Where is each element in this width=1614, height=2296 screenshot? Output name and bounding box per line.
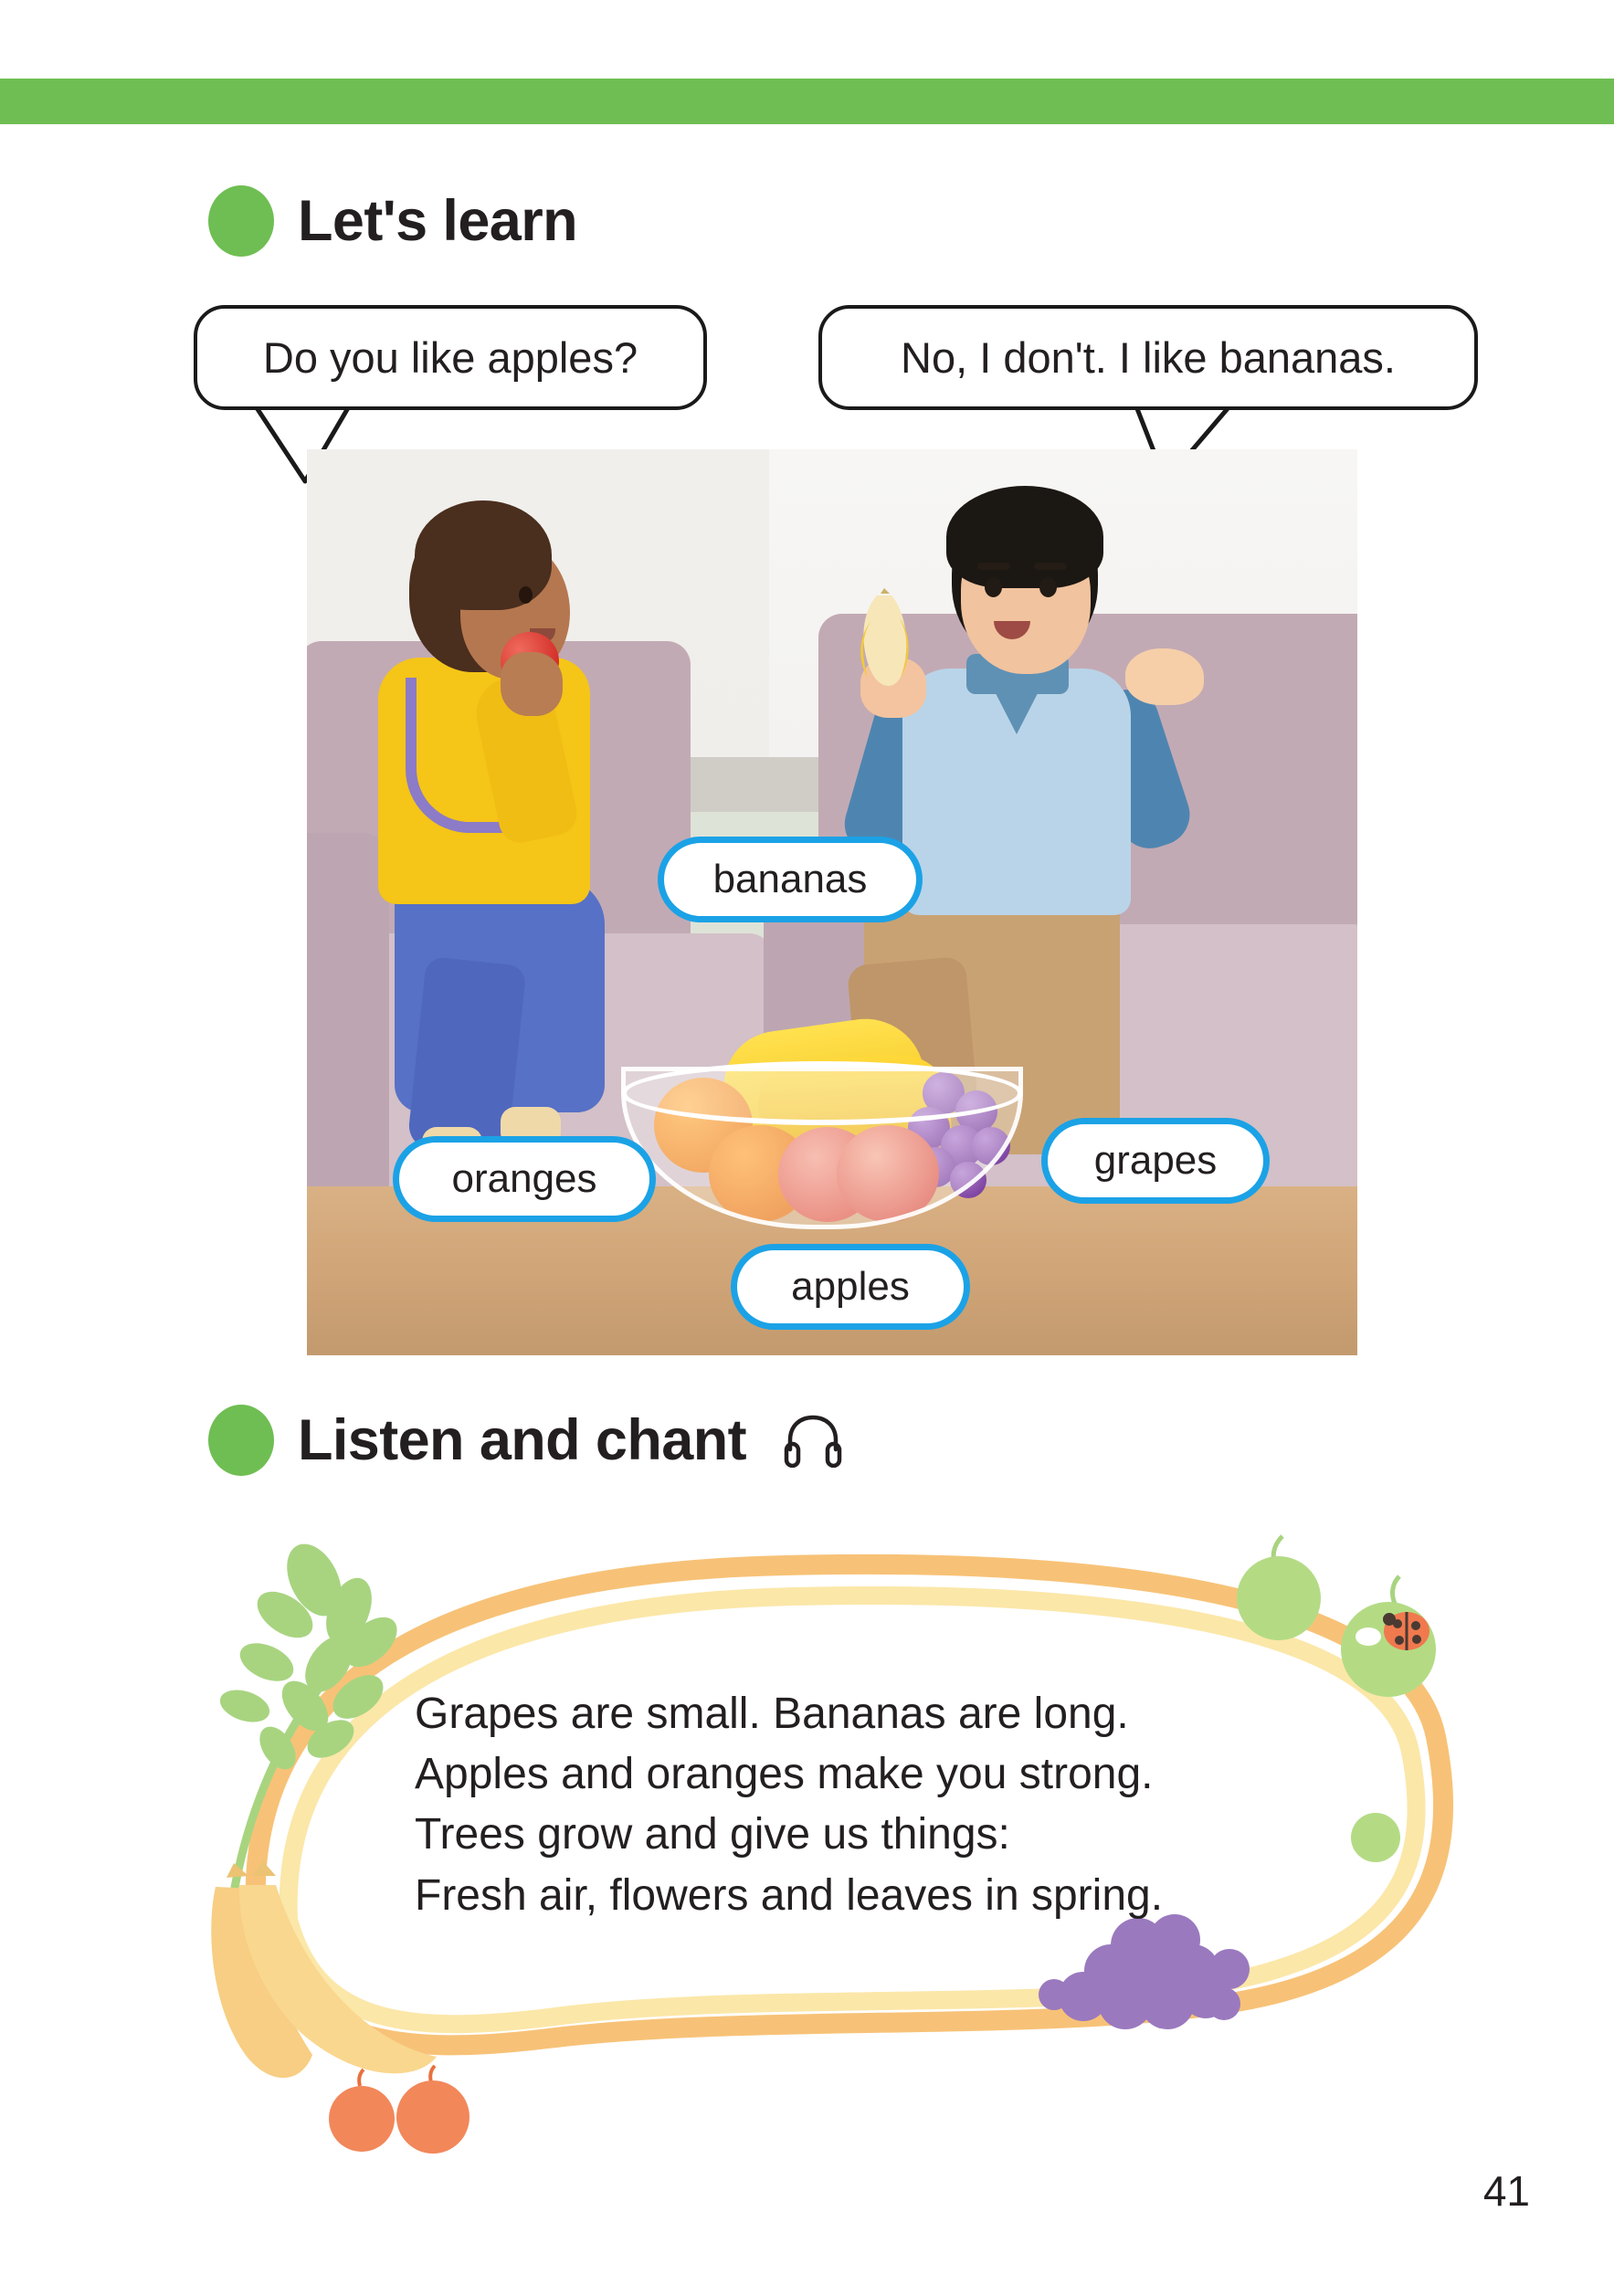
right-boy-eye-right (1039, 577, 1057, 597)
fruit-label-bananas[interactable]: bananas (658, 837, 923, 922)
speech-bubble-right: No, I don't. I like bananas. (818, 305, 1478, 410)
speech-bubble-left: Do you like apples? (194, 305, 707, 410)
fruit-label-oranges-text: oranges (451, 1156, 596, 1202)
right-boy-hand-right (1125, 648, 1204, 705)
fruit-label-bananas-text: bananas (713, 857, 868, 902)
section-heading-listen-and-chant: Listen and chant (208, 1405, 843, 1476)
sofa-left-arm (307, 833, 389, 1216)
section-title-lets-learn: Let's learn (298, 188, 577, 254)
right-boy-eyebrow-right (1034, 563, 1067, 570)
textbook-page: Let's learn Do you like apples? No, I do… (0, 0, 1614, 2296)
chant-decorative-frame: Grapes are small. Bananas are long. Appl… (201, 1527, 1489, 2203)
fruit-label-apples-text: apples (791, 1264, 910, 1310)
left-boy-hand (501, 652, 563, 716)
section-heading-lets-learn: Let's learn (208, 185, 577, 257)
peeled-banana-icon (844, 588, 926, 698)
fruit-bowl (621, 1019, 1023, 1229)
glass-bowl-rim (621, 1061, 1023, 1125)
right-boy-eyebrow-left (977, 563, 1010, 570)
fruit-label-grapes[interactable]: grapes (1041, 1118, 1270, 1204)
fruit-label-oranges[interactable]: oranges (393, 1136, 656, 1222)
green-apple-with-ladybug-icon (1341, 1576, 1436, 1697)
bananas-icon (211, 1861, 437, 2078)
top-green-band (0, 79, 1614, 124)
speech-bubble-left-text: Do you like apples? (263, 332, 638, 383)
right-boy-eye-left (985, 577, 1002, 597)
right-boy-hair-top (946, 486, 1103, 588)
green-apple-icon (1237, 1536, 1321, 1640)
fruit-label-apples[interactable]: apples (731, 1244, 970, 1330)
chant-line: Grapes are small. Bananas are long. (415, 1684, 1383, 1744)
chant-text-block: Grapes are small. Bananas are long. Appl… (415, 1684, 1383, 1926)
page-number: 41 (1483, 2166, 1530, 2216)
green-circle-bullet-icon (208, 1405, 274, 1476)
chant-line: Fresh air, flowers and leaves in spring. (415, 1866, 1383, 1926)
green-circle-bullet-icon (208, 185, 274, 257)
orange-icon (329, 2070, 395, 2152)
orange-icon (396, 2066, 469, 2154)
fruit-label-grapes-text: grapes (1094, 1138, 1218, 1184)
chant-line: Trees grow and give us things: (415, 1805, 1383, 1865)
speech-bubble-right-text: No, I don't. I like bananas. (901, 332, 1396, 383)
section-title-listen-and-chant: Listen and chant (298, 1407, 746, 1473)
headphones-icon (783, 1413, 843, 1468)
chant-line: Apples and oranges make you strong. (415, 1744, 1383, 1805)
left-boy-eye (519, 586, 533, 604)
grapes-icon (1039, 1914, 1250, 2029)
